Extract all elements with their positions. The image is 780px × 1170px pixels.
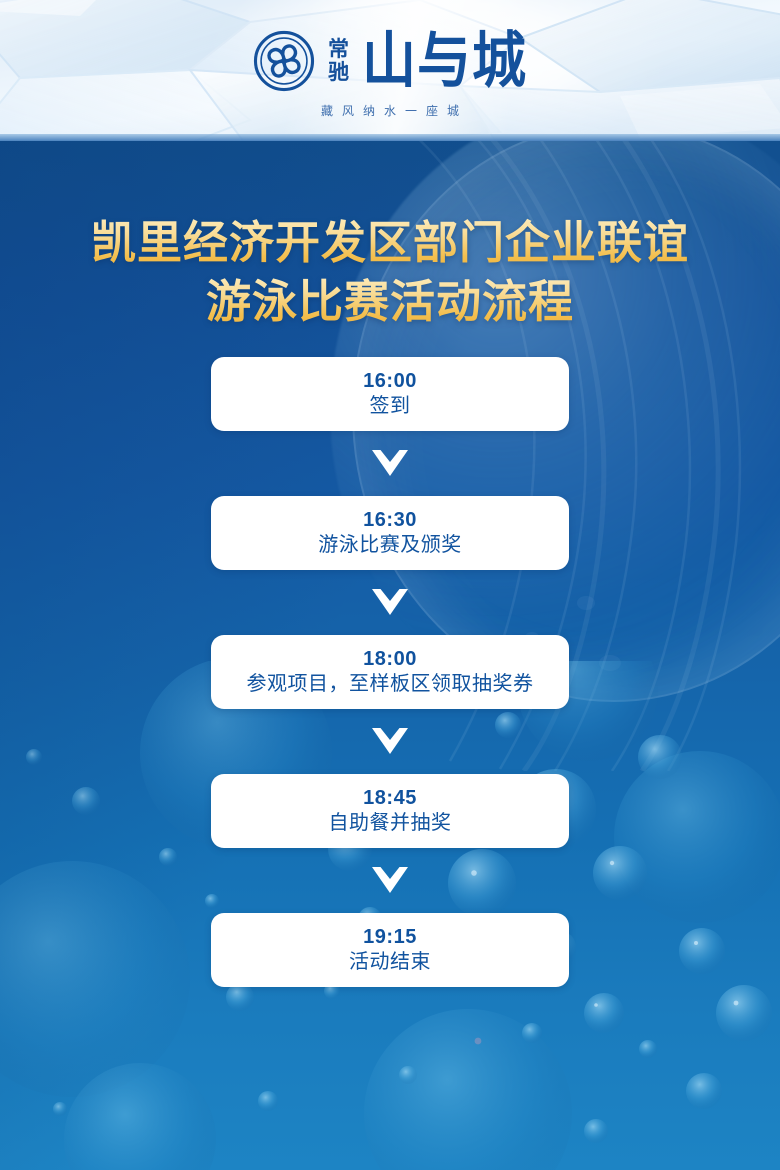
- timeline-step-4[interactable]: 18:45 自助餐并抽奖: [211, 774, 569, 848]
- timeline-step-1[interactable]: 16:00 签到: [211, 357, 569, 431]
- step-label: 游泳比赛及颁奖: [318, 532, 462, 558]
- poster-header: 常 驰 山与城 藏风纳水一座城: [0, 0, 780, 141]
- brand-logo-lockup: 常 驰 山与城 藏风纳水一座城: [0, 30, 780, 119]
- step-time: 16:30: [363, 508, 417, 532]
- step-time: 18:45: [363, 786, 417, 810]
- timeline-connector-3: [211, 709, 569, 774]
- timeline-connector-1: [211, 431, 569, 496]
- brand-prefix-bottom: 驰: [328, 62, 349, 83]
- brand-tagline: 藏风纳水一座城: [312, 102, 468, 119]
- step-label: 参观项目，至样板区领取抽奖券: [247, 671, 534, 697]
- event-flow-poster: 常 驰 山与城 藏风纳水一座城: [0, 0, 780, 1170]
- title-line-2: 游泳比赛活动流程: [0, 273, 780, 332]
- brand-name: 山与城: [362, 31, 527, 91]
- header-bottom-edge: [0, 134, 780, 141]
- brand-prefix-top: 常: [328, 39, 349, 60]
- timeline-connector-4: [211, 848, 569, 913]
- step-time: 18:00: [363, 647, 417, 671]
- chevron-down-icon: [372, 450, 408, 477]
- timeline-step-3[interactable]: 18:00 参观项目，至样板区领取抽奖券: [211, 635, 569, 709]
- step-label: 自助餐并抽奖: [329, 810, 452, 836]
- step-time: 16:00: [363, 369, 417, 393]
- page-title: 凯里经济开发区部门企业联谊 游泳比赛活动流程: [0, 214, 780, 331]
- chevron-down-icon: [372, 867, 408, 894]
- timeline-connector-2: [211, 570, 569, 635]
- brand-prefix: 常 驰: [328, 39, 349, 83]
- step-time: 19:15: [363, 925, 417, 949]
- timeline-step-2[interactable]: 16:30 游泳比赛及颁奖: [211, 496, 569, 570]
- chevron-down-icon: [372, 589, 408, 616]
- chevron-down-icon: [372, 728, 408, 755]
- event-timeline: 16:00 签到 16:30 游泳比赛及颁奖 18:00 参观项目，至样板区领取…: [211, 357, 569, 987]
- title-line-1: 凯里经济开发区部门企业联谊: [0, 214, 780, 273]
- step-label: 签到: [370, 393, 411, 419]
- timeline-step-5[interactable]: 19:15 活动结束: [211, 913, 569, 987]
- circular-knot-emblem-icon: [253, 30, 315, 92]
- step-label: 活动结束: [349, 949, 431, 975]
